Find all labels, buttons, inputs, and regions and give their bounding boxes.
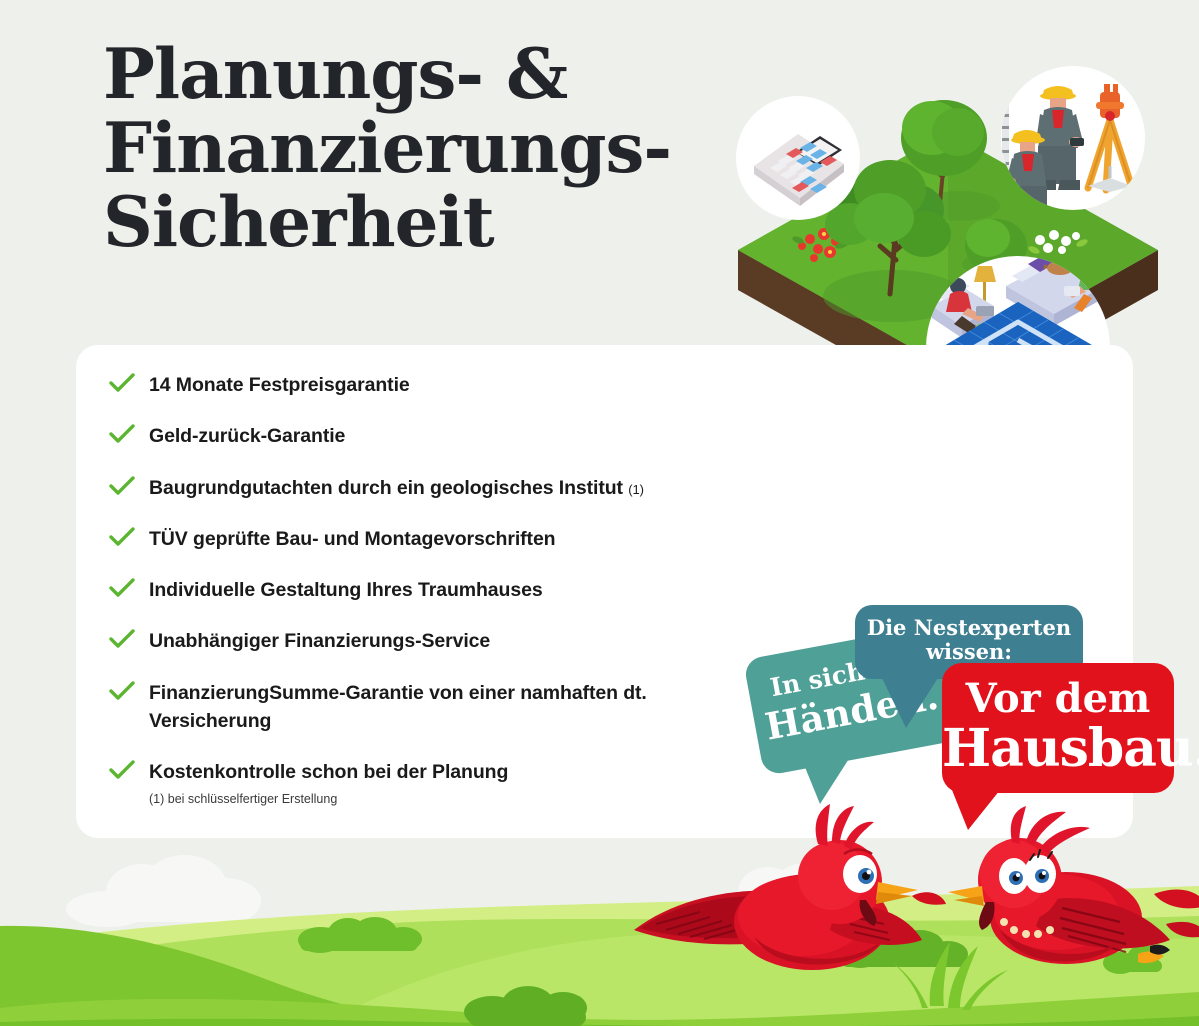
speech-bubble-top-line-1: Die Nestexperten <box>855 616 1083 640</box>
list-item-label: Baugrundgutachten durch ein geologisches… <box>149 474 644 502</box>
speech-bubble-top-line-2: wissen: <box>855 640 1083 664</box>
footnote-marker: (1) <box>628 482 644 497</box>
list-item: TÜV geprüfte Bau- und Montagevorschrifte… <box>109 525 889 553</box>
speech-bubble-top-tail <box>880 676 950 736</box>
check-icon <box>109 577 149 604</box>
title-line-3: Sicherheit <box>103 186 743 260</box>
list-item-label: Unabhängiger Finanzierungs-Service <box>149 627 490 655</box>
calculator-badge <box>736 96 860 220</box>
bird-right <box>938 806 1199 986</box>
list-item-label: Kostenkontrolle schon bei der Planung <box>149 758 508 786</box>
check-icon <box>109 680 149 707</box>
check-icon <box>109 475 149 502</box>
speech-bubble-red-line-1: Vor dem <box>942 675 1174 722</box>
list-item: Geld-zurück-Garantie <box>109 422 889 450</box>
list-item-label: Geld-zurück-Garantie <box>149 422 345 450</box>
check-icon <box>109 628 149 655</box>
check-icon <box>109 372 149 399</box>
list-item: Unabhängiger Finanzierungs-Service <box>109 627 889 655</box>
title-line-1: Planungs- & <box>103 38 743 112</box>
check-icon <box>109 423 149 450</box>
list-item: Individuelle Gestaltung Ihres Traumhause… <box>109 576 889 604</box>
list-item-label: FinanzierungSumme-Garantie von einer nam… <box>149 679 689 736</box>
page-title: Planungs- & Finanzierungs- Sicherheit <box>103 38 743 259</box>
cloud-left-icon <box>66 855 261 927</box>
surveyors-badge <box>1001 66 1145 210</box>
list-item: Baugrundgutachten durch ein geologisches… <box>109 474 889 502</box>
title-line-2: Finanzierungs- <box>103 112 743 186</box>
list-item-label: TÜV geprüfte Bau- und Montagevorschrifte… <box>149 525 556 553</box>
infographic-root: Planungs- & Finanzierungs- Sicherheit <box>0 0 1199 1026</box>
check-icon <box>109 526 149 553</box>
list-item: 14 Monate Festpreisgarantie <box>109 371 889 399</box>
speech-bubble-red: Vor dem Hausbau. <box>942 663 1174 793</box>
check-icon <box>109 759 149 786</box>
bird-feet-icon <box>1138 945 1170 963</box>
list-item-label: 14 Monate Festpreisgarantie <box>149 371 410 399</box>
list-item: FinanzierungSumme-Garantie von einer nam… <box>109 679 709 736</box>
speech-bubble-red-line-2: Hausbau. <box>942 718 1174 779</box>
footnote-text: (1) bei schlüsselfertiger Erstellung <box>149 792 337 806</box>
bird-left <box>626 800 956 990</box>
list-item-label: Individuelle Gestaltung Ihres Traumhause… <box>149 576 543 604</box>
